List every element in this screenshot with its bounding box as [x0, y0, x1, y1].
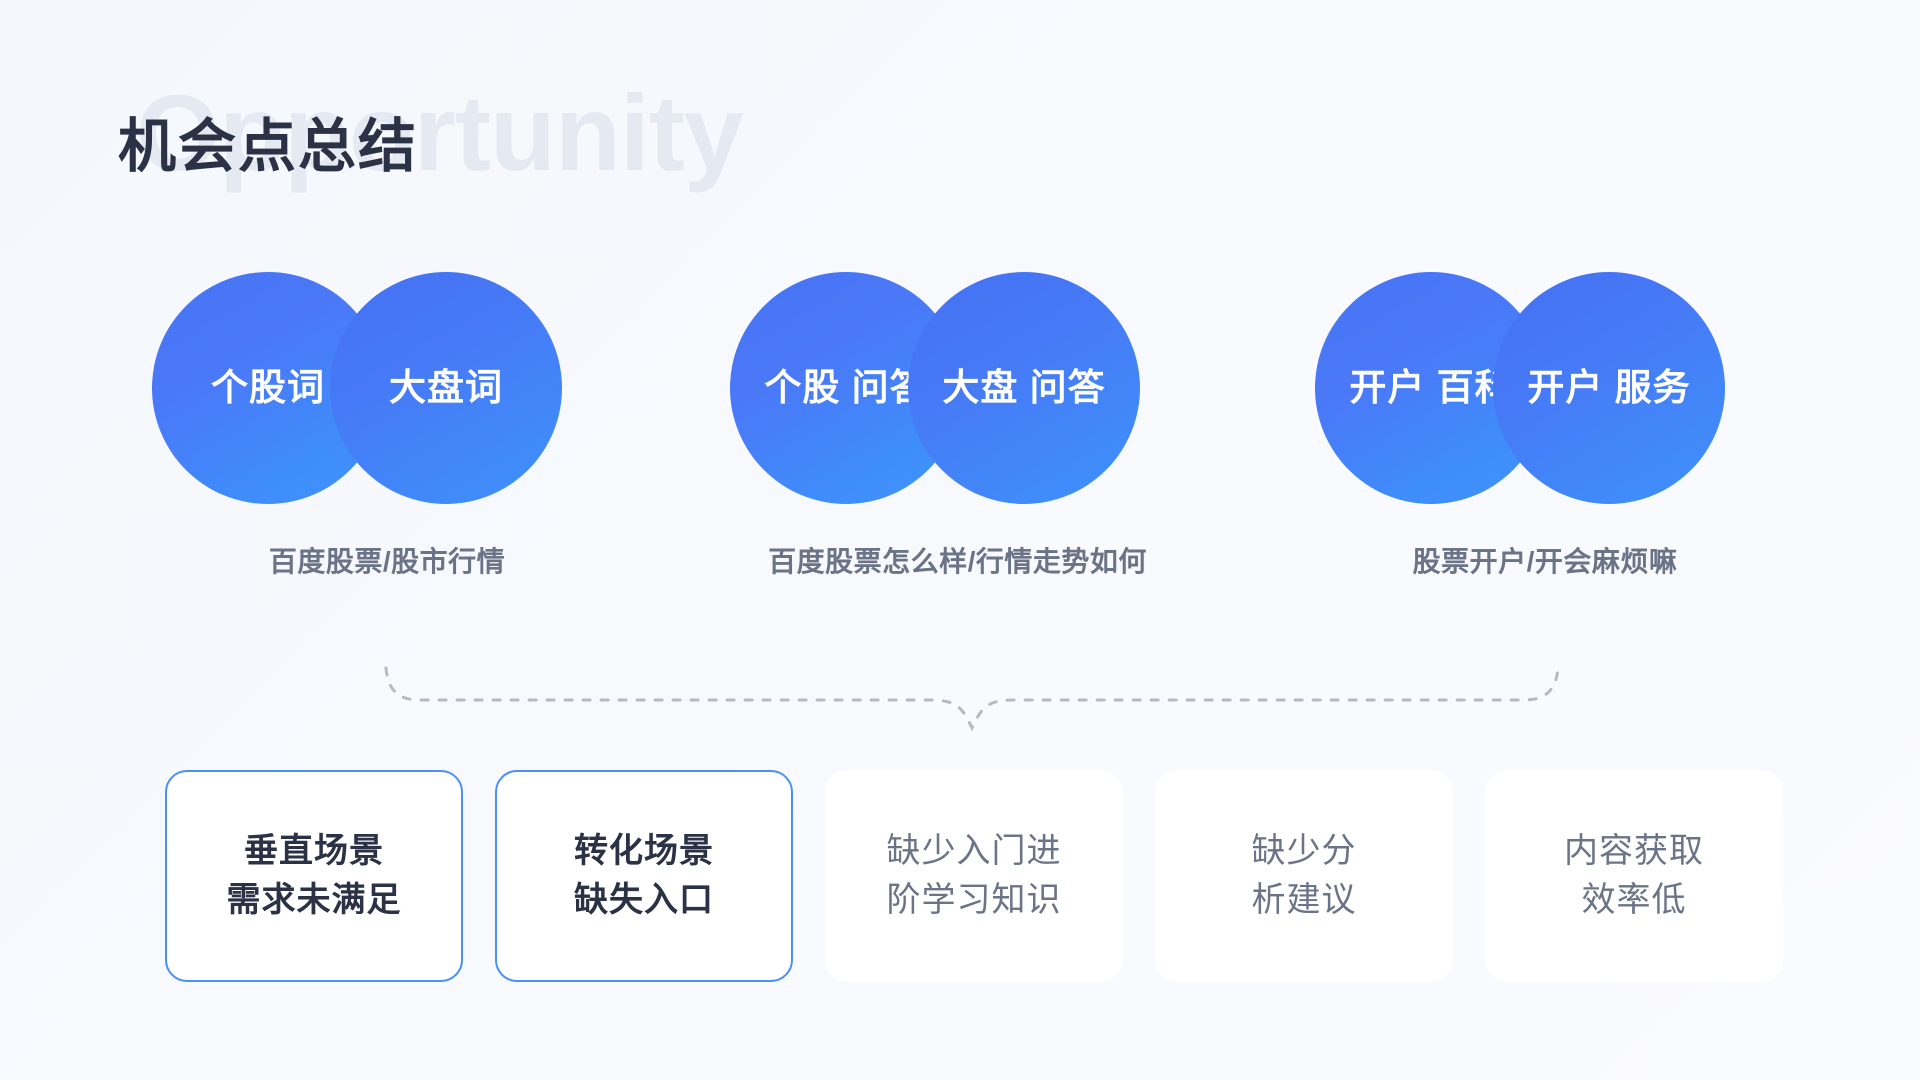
insight-card[interactable]: 内容获取 效率低 — [1485, 770, 1783, 982]
group-caption: 股票开户/开会麻烦嘛 — [1315, 540, 1775, 580]
insight-card[interactable]: 转化场景 缺失入口 — [495, 770, 793, 982]
group-caption: 百度股票怎么样/行情走势如何 — [730, 540, 1185, 580]
insight-card[interactable]: 缺少分 析建议 — [1155, 770, 1453, 982]
circle-group-3: 开户 百科 开户 服务 股票开户/开会麻烦嘛 — [1315, 272, 1775, 602]
circle-groups: 个股词 大盘词 百度股票/股市行情 个股 问答 大盘 问答 百度股票怎么样/行情… — [0, 272, 1920, 602]
circle-pair-1: 个股词 大盘词 — [152, 272, 622, 512]
circle-group-1: 个股词 大盘词 百度股票/股市行情 — [152, 272, 622, 602]
dashed-bracket-connector — [0, 628, 1920, 748]
circle-pair-3: 开户 百科 开户 服务 — [1315, 272, 1775, 512]
circle-bubble[interactable]: 开户 服务 — [1493, 272, 1725, 504]
insight-card[interactable]: 缺少入门进 阶学习知识 — [825, 770, 1123, 982]
insight-cards: 垂直场景 需求未满足 转化场景 缺失入口 缺少入门进 阶学习知识 缺少分 析建议… — [165, 770, 1783, 982]
page-title: 机会点总结 — [118, 114, 418, 181]
circle-bubble[interactable]: 大盘词 — [330, 272, 562, 504]
group-caption: 百度股票/股市行情 — [152, 540, 622, 580]
circle-group-2: 个股 问答 大盘 问答 百度股票怎么样/行情走势如何 — [730, 272, 1185, 602]
circle-pair-2: 个股 问答 大盘 问答 — [730, 272, 1185, 512]
bracket-path — [386, 668, 1558, 728]
insight-card[interactable]: 垂直场景 需求未满足 — [165, 770, 463, 982]
circle-bubble[interactable]: 大盘 问答 — [908, 272, 1140, 504]
